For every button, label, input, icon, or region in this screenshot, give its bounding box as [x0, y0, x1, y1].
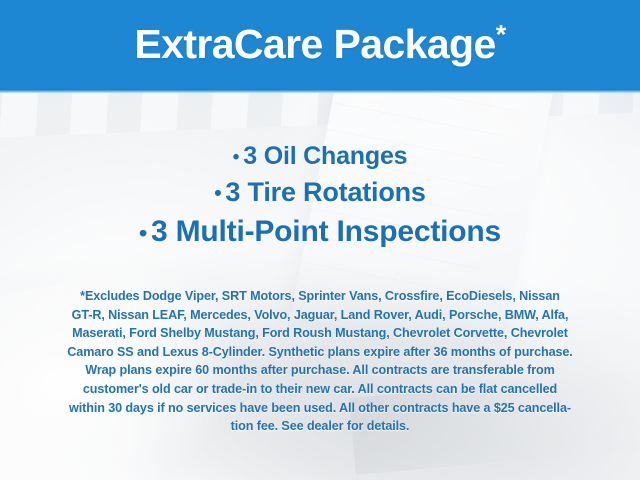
bullet-icon: • [233, 146, 244, 168]
disclaimer-line: customer's old car or trade-in to their … [18, 380, 622, 399]
benefit-item-label: 3 Oil Changes [243, 142, 407, 170]
disclaimer-line: within 30 days if no services have been … [18, 399, 622, 418]
disclaimer-line: GT-R, Nissan LEAF, Mercedes, Volvo, Jagu… [18, 306, 622, 325]
benefit-item-label: 3 Multi-Point Inspections [151, 215, 501, 248]
header-banner: ExtraCare Package* [0, 0, 640, 89]
benefit-item-label: 3 Tire Rotations [225, 177, 425, 207]
disclaimer-fine-print: *Excludes Dodge Viper, SRT Motors, Sprin… [18, 287, 622, 436]
disclaimer-line: Maserati, Ford Shelby Mustang, Ford Rous… [18, 324, 622, 343]
benefits-list: •3 Oil Changes •3 Tire Rotations •3 Mult… [0, 140, 640, 253]
benefit-item-multi-point-inspections: •3 Multi-Point Inspections [0, 212, 640, 253]
page-title-text: ExtraCare Package [134, 21, 495, 67]
disclaimer-line: *Excludes Dodge Viper, SRT Motors, Sprin… [18, 287, 622, 306]
disclaimer-line: Camaro SS and Lexus 8-Cylinder. Syntheti… [18, 343, 622, 362]
disclaimer-line: Wrap plans expire 60 months after purcha… [18, 361, 622, 380]
page-title: ExtraCare Package* [134, 24, 505, 65]
disclaimer-line: tion fee. See dealer for details. [18, 417, 622, 436]
extracare-package-poster: ExtraCare Package* •3 Oil Changes •3 Tir… [0, 0, 640, 480]
bullet-icon: • [139, 220, 151, 246]
page-title-asterisk: * [496, 19, 506, 49]
header-underline-divider [0, 89, 640, 93]
benefit-item-oil-changes: •3 Oil Changes [0, 140, 640, 174]
benefit-item-tire-rotations: •3 Tire Rotations [0, 174, 640, 212]
bullet-icon: • [214, 182, 225, 205]
